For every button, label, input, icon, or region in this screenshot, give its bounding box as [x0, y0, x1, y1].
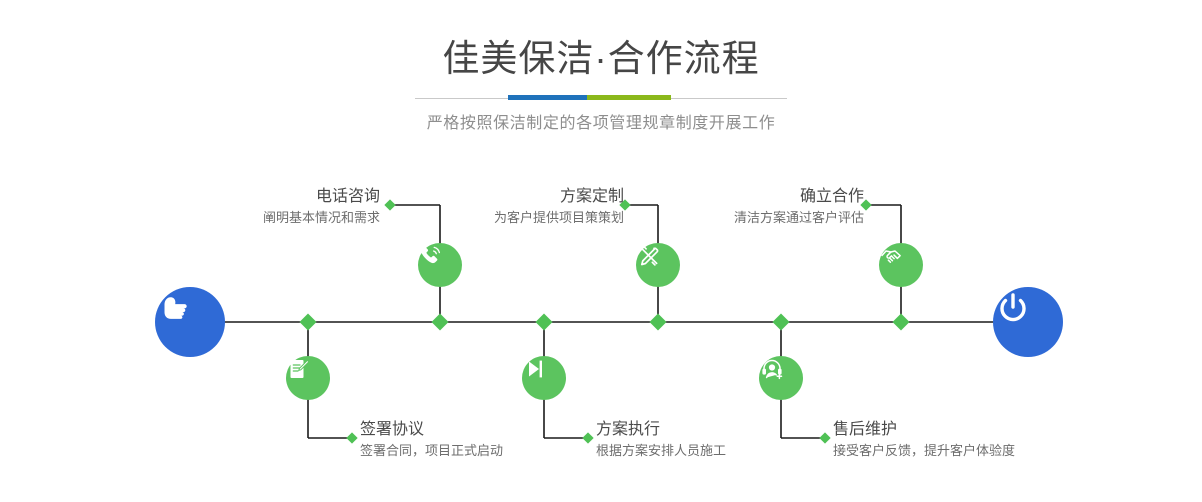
power-icon — [993, 287, 1033, 327]
headset-support-icon — [759, 356, 786, 383]
step-text-establish-coop: 确立合作 清洁方案通过客户评估 — [734, 186, 864, 228]
step-text-plan-execute: 方案执行 根据方案安排人员施工 — [596, 419, 726, 461]
diamond-marker — [773, 314, 790, 331]
label-diamond-after-sales — [819, 432, 830, 443]
step-desc: 根据方案安排人员施工 — [596, 440, 726, 461]
step-title: 方案执行 — [596, 419, 726, 440]
diamond-marker — [536, 314, 553, 331]
pointing-hand-icon — [155, 287, 195, 327]
step-text-after-sales: 售后维护 接受客户反馈，提升客户体验度 — [833, 419, 1015, 461]
step-title: 售后维护 — [833, 419, 1015, 440]
step-title: 确立合作 — [734, 186, 864, 207]
step-icon-plan-custom[interactable] — [636, 243, 680, 287]
step-title: 电话咨询 — [263, 186, 380, 207]
label-diamond-phone-consult — [384, 199, 395, 210]
step-icon-plan-execute[interactable] — [522, 356, 566, 400]
step-text-sign-agreement: 签署协议 签署合同，项目正式启动 — [360, 419, 503, 461]
diamond-marker — [432, 314, 449, 331]
step-text-phone-consult: 电话咨询 阐明基本情况和需求 — [263, 186, 380, 228]
flow-end-node[interactable] — [993, 287, 1063, 357]
process-flow-diagram: 电话咨询 阐明基本情况和需求 方案定制 为客户提供项目策策划 — [0, 0, 1202, 502]
step-title: 签署协议 — [360, 419, 503, 440]
process-flow-page: 佳美保洁·合作流程 严格按照保洁制定的各项管理规章制度开展工作 — [0, 0, 1202, 502]
flow-start-node[interactable] — [155, 287, 225, 357]
step-desc: 清洁方案通过客户评估 — [734, 207, 864, 228]
phone-call-icon — [418, 243, 444, 269]
pen-design-icon — [636, 243, 662, 269]
step-icon-after-sales[interactable] — [759, 356, 803, 400]
step-desc: 阐明基本情况和需求 — [263, 207, 380, 228]
step-icon-sign-agreement[interactable] — [286, 356, 330, 400]
diamond-marker — [893, 314, 910, 331]
label-diamond-sign-agreement — [346, 432, 357, 443]
step-text-plan-custom: 方案定制 为客户提供项目策策划 — [494, 186, 624, 228]
play-next-icon — [522, 356, 548, 382]
handshake-icon — [879, 243, 906, 270]
step-desc: 接受客户反馈，提升客户体验度 — [833, 440, 1015, 461]
step-desc: 签署合同，项目正式启动 — [360, 440, 503, 461]
document-edit-icon — [286, 356, 312, 382]
step-icon-phone-consult[interactable] — [418, 243, 462, 287]
diamond-marker — [650, 314, 667, 331]
diamond-marker — [300, 314, 317, 331]
label-diamond-plan-execute — [582, 432, 593, 443]
step-title: 方案定制 — [494, 186, 624, 207]
step-icon-establish-coop[interactable] — [879, 243, 923, 287]
step-desc: 为客户提供项目策策划 — [494, 207, 624, 228]
